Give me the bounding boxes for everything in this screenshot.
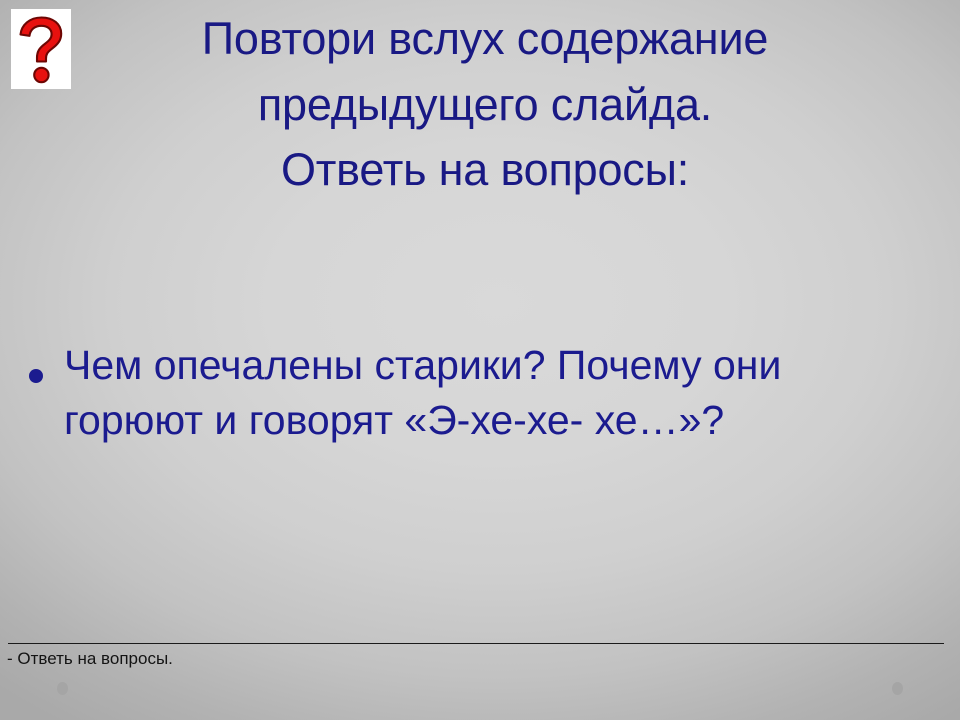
- slide-body: Чем опечалены старики? Почему они горюют…: [8, 338, 948, 448]
- title-line-2: предыдущего слайда.: [70, 72, 900, 138]
- question-mark-icon: [11, 9, 71, 89]
- bullet-line-1: Чем опечалены старики? Почему: [64, 342, 702, 388]
- bullet-marker-icon: [8, 338, 64, 390]
- slide-canvas: Повтори вслух содержание предыдущего сла…: [0, 0, 960, 720]
- list-item: Чем опечалены старики? Почему они горюют…: [8, 338, 948, 448]
- slide-title: Повтори вслух содержание предыдущего сла…: [70, 6, 900, 203]
- bullet-line-3: хе…»?: [595, 397, 724, 443]
- bullet-text: Чем опечалены старики? Почему они горюют…: [64, 338, 948, 448]
- decorative-dot-right: [892, 682, 903, 695]
- question-mark-glyph: [11, 9, 71, 89]
- title-line-1: Повтори вслух содержание: [70, 6, 900, 72]
- decorative-dot-left: [57, 682, 68, 695]
- title-line-3: Ответь на вопросы:: [70, 137, 900, 203]
- footer-note: - Ответь на вопросы.: [7, 648, 173, 670]
- footer-divider: [8, 643, 944, 644]
